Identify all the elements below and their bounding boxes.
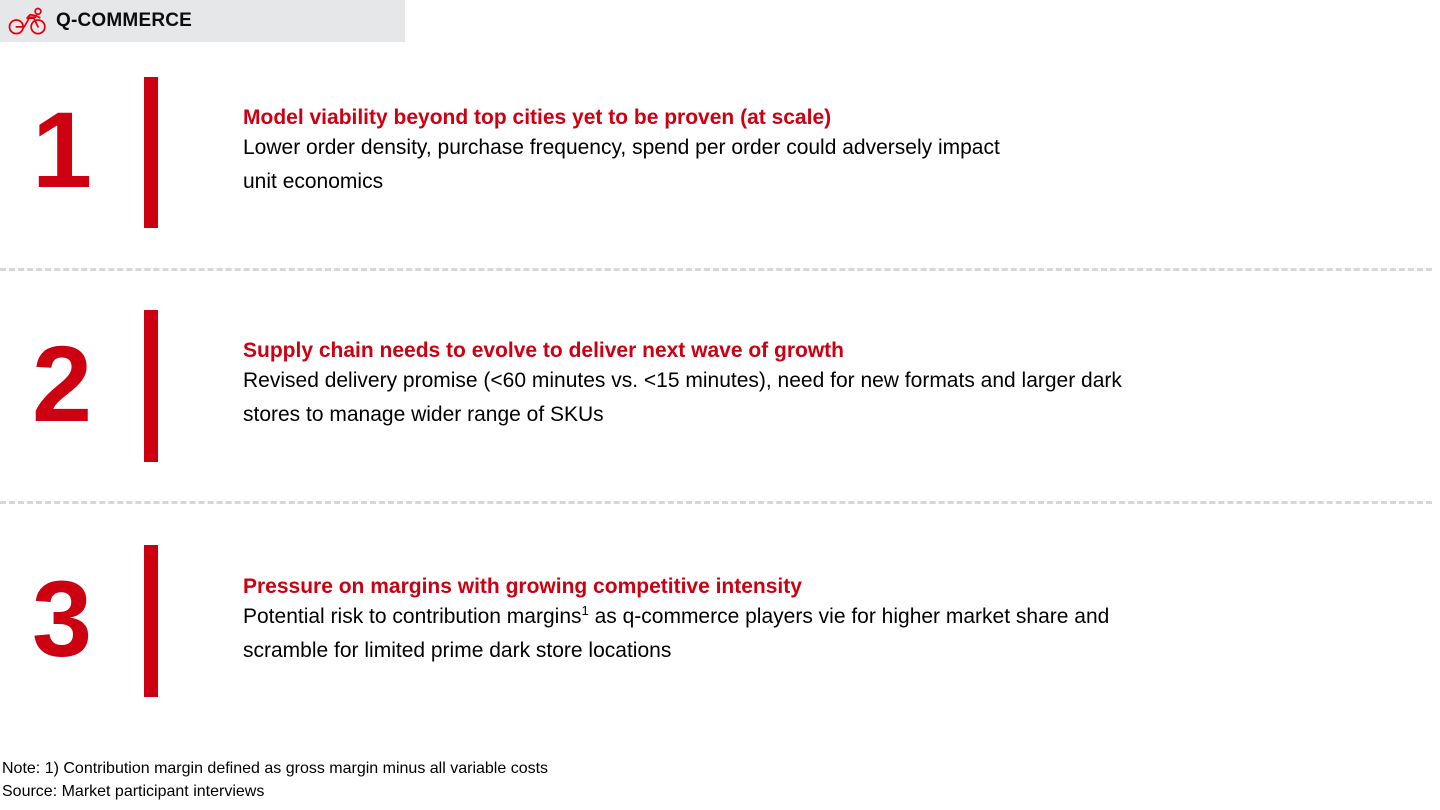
section-body-line-2-1: Revised delivery promise (<60 minutes vs… <box>243 369 1122 392</box>
section-body-line-2-2: stores to manage wider range of SKUs <box>243 403 604 426</box>
section-body-line-3-1-after: as q-commerce players vie for higher mar… <box>589 605 1110 628</box>
section-body-line-3-2: scramble for limited prime dark store lo… <box>243 639 671 662</box>
section-number-2: 2 <box>2 330 122 438</box>
header-banner: Q-COMMERCE <box>0 0 405 42</box>
section-body-1: Lower order density, purchase frequency,… <box>243 131 1430 199</box>
footer-notes: Note: 1) Contribution margin defined as … <box>2 758 548 803</box>
section-accent-bar-1 <box>144 77 158 228</box>
section-body-2: Revised delivery promise (<60 minutes vs… <box>243 364 1430 432</box>
cyclist-bike-icon <box>8 6 48 36</box>
footer-source: Source: Market participant interviews <box>2 781 548 804</box>
section-text-1: Model viability beyond top cities yet to… <box>243 104 1430 199</box>
section-body-3: Potential risk to contribution margins1 … <box>243 600 1430 668</box>
section-number-1: 1 <box>2 96 122 204</box>
section-heading-2: Supply chain needs to evolve to deliver … <box>243 337 1430 364</box>
section-body-line-1-2: unit economics <box>243 170 383 193</box>
section-number-3: 3 <box>2 565 122 673</box>
section-text-2: Supply chain needs to evolve to deliver … <box>243 337 1430 432</box>
section-accent-bar-3 <box>144 545 158 697</box>
section-divider-1 <box>0 268 1432 271</box>
section-body-line-3-1-before: Potential risk to contribution margins <box>243 605 582 628</box>
footnote-marker: 1 <box>582 603 589 618</box>
section-accent-bar-2 <box>144 310 158 462</box>
section-text-3: Pressure on margins with growing competi… <box>243 573 1430 668</box>
section-heading-1: Model viability beyond top cities yet to… <box>243 104 1430 131</box>
section-divider-2 <box>0 501 1432 504</box>
header-title: Q-COMMERCE <box>56 10 192 32</box>
section-heading-3: Pressure on margins with growing competi… <box>243 573 1430 600</box>
section-body-line-1-1: Lower order density, purchase frequency,… <box>243 136 1000 159</box>
footer-note: Note: 1) Contribution margin defined as … <box>2 758 548 781</box>
